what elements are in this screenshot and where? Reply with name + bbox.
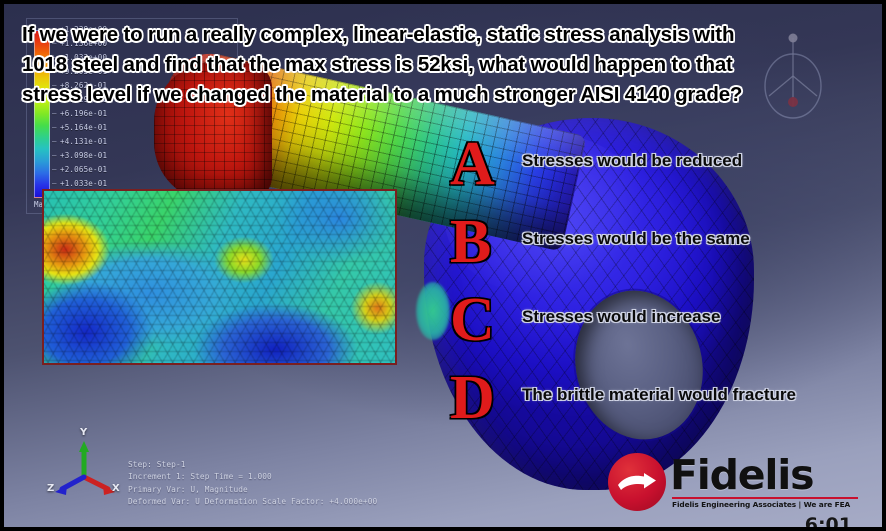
inset-mesh-contour-image <box>42 189 397 365</box>
clock-readout: 6:01 <box>805 514 852 527</box>
answer-option-b[interactable]: B Stresses would be the same <box>450 214 750 271</box>
abaqus-status-block: Step: Step-1 Increment 1: Step Time = 1.… <box>128 459 377 510</box>
legend-tick: —+2.065e-01 <box>52 164 107 176</box>
axis-triad: Y X Z <box>46 427 126 509</box>
question-line-1: If we were to run a really complex, line… <box>22 20 874 50</box>
question-text: If we were to run a really complex, line… <box>22 20 874 110</box>
status-deformed-var: Deformed Var: U Deformation Scale Factor… <box>128 496 377 509</box>
legend-tick-value: +3.098e-01 <box>60 151 107 160</box>
inset-overlay <box>44 191 395 363</box>
status-increment: Increment 1: Step Time = 1.000 <box>128 471 377 484</box>
answer-letter-a: A <box>450 136 522 193</box>
legend-tick-value: +5.164e-01 <box>60 123 107 132</box>
answer-option-c[interactable]: C Stresses would increase <box>450 292 720 349</box>
status-primary-var: Primary Var: U, Magnitude <box>128 484 377 497</box>
status-step: Step: Step-1 <box>128 459 377 472</box>
fidelis-logo: Fidelis Fidelis Engineering Associates |… <box>608 451 858 513</box>
legend-tick-value: +4.131e-01 <box>60 137 107 146</box>
legend-tick-dash: — <box>52 164 60 176</box>
answer-option-d[interactable]: D The brittle material would fracture <box>450 370 796 427</box>
model-stress-hotspot <box>416 282 450 340</box>
logo-name: Fidelis <box>670 457 858 495</box>
logo-arrow-icon <box>617 473 657 492</box>
quiz-slide: —+1.239e+00—+1.136e+00—+1.033e+00—+9.295… <box>0 0 886 531</box>
legend-tick: —+3.098e-01 <box>52 150 107 162</box>
legend-tick: —+5.164e-01 <box>52 122 107 134</box>
axis-label-z: Z <box>47 483 54 494</box>
axis-label-x: X <box>112 483 120 494</box>
answer-text-b: Stresses would be the same <box>522 214 750 250</box>
answer-option-a[interactable]: A Stresses would be reduced <box>450 136 742 193</box>
logo-circle <box>608 453 666 511</box>
abaqus-viewport: —+1.239e+00—+1.136e+00—+1.033e+00—+9.295… <box>4 4 882 527</box>
legend-tick: —+4.131e-01 <box>52 136 107 148</box>
axis-label-y: Y <box>80 427 87 438</box>
answer-text-d: The brittle material would fracture <box>522 370 796 406</box>
answer-text-c: Stresses would increase <box>522 292 720 328</box>
logo-wordmark: Fidelis Fidelis Engineering Associates |… <box>670 455 858 509</box>
answer-letter-b: B <box>450 214 522 271</box>
question-line-2: 1018 steel and find that the max stress … <box>22 50 874 80</box>
answer-letter-d: D <box>450 370 522 427</box>
legend-tick-dash: — <box>52 122 60 134</box>
legend-tick-value: +2.065e-01 <box>60 165 107 174</box>
legend-tick-value: +1.033e-01 <box>60 179 107 188</box>
legend-tick-dash: — <box>52 136 60 148</box>
legend-tick-dash: — <box>52 150 60 162</box>
question-line-3: stress level if we changed the material … <box>22 80 874 110</box>
logo-tagline: Fidelis Engineering Associates | We are … <box>672 500 858 509</box>
axis-triad-icon <box>46 427 126 509</box>
answer-text-a: Stresses would be reduced <box>522 136 742 172</box>
answer-letter-c: C <box>450 292 522 349</box>
